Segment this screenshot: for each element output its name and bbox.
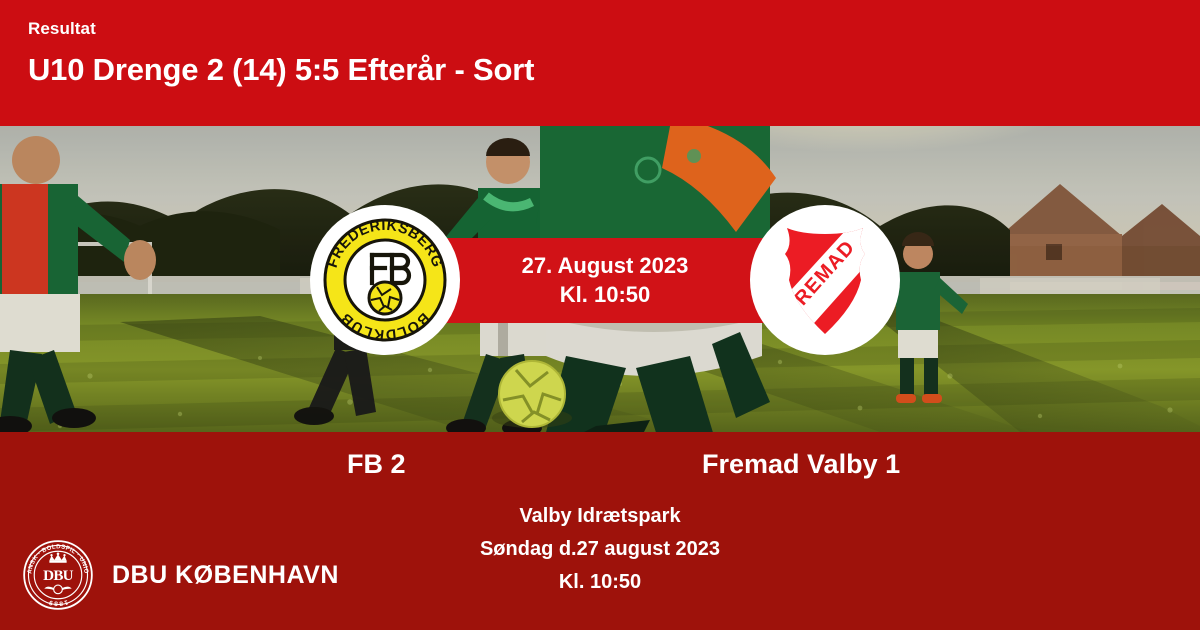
match-time: Kl. 10:50 — [560, 281, 651, 309]
match-date: 27. August 2023 — [522, 252, 689, 280]
crest-monogram: DBU — [43, 568, 74, 584]
dbu-crest-icon: DANSK · BOLDSPIL · UNION 1889 DBU — [22, 539, 94, 611]
card-header: Resultat U10 Drenge 2 (14) 5:5 Efterår -… — [0, 0, 1200, 126]
svg-text:1889: 1889 — [47, 598, 68, 607]
dbu-footer-logo[interactable]: DANSK · BOLDSPIL · UNION 1889 DBU DBU KØ… — [22, 539, 339, 611]
header-kicker: Resultat — [28, 20, 1200, 37]
away-team-badge[interactable]: FREMAD — [750, 205, 900, 355]
crest-year-text: 1889 — [47, 598, 68, 607]
page-title: U10 Drenge 2 (14) 5:5 Efterår - Sort — [28, 53, 1200, 87]
away-team-name: Fremad Valby 1 — [702, 446, 900, 484]
venue-name: Valby Idrætspark — [0, 500, 1200, 533]
fremad-valby-badge-icon: FREMAD — [769, 220, 881, 340]
team-names-row: FB 2 Fremad Valby 1 — [0, 432, 1200, 500]
home-team-badge[interactable]: FREDERIKSBERG BOLDKLUB — [310, 205, 460, 355]
home-team-name: FB 2 — [347, 446, 406, 484]
dbu-wordmark: DBU KØBENHAVN — [112, 561, 339, 590]
frederiksberg-boldklub-badge-icon: FREDERIKSBERG BOLDKLUB — [322, 217, 448, 343]
match-result-card: Resultat U10 Drenge 2 (14) 5:5 Efterår -… — [0, 0, 1200, 630]
